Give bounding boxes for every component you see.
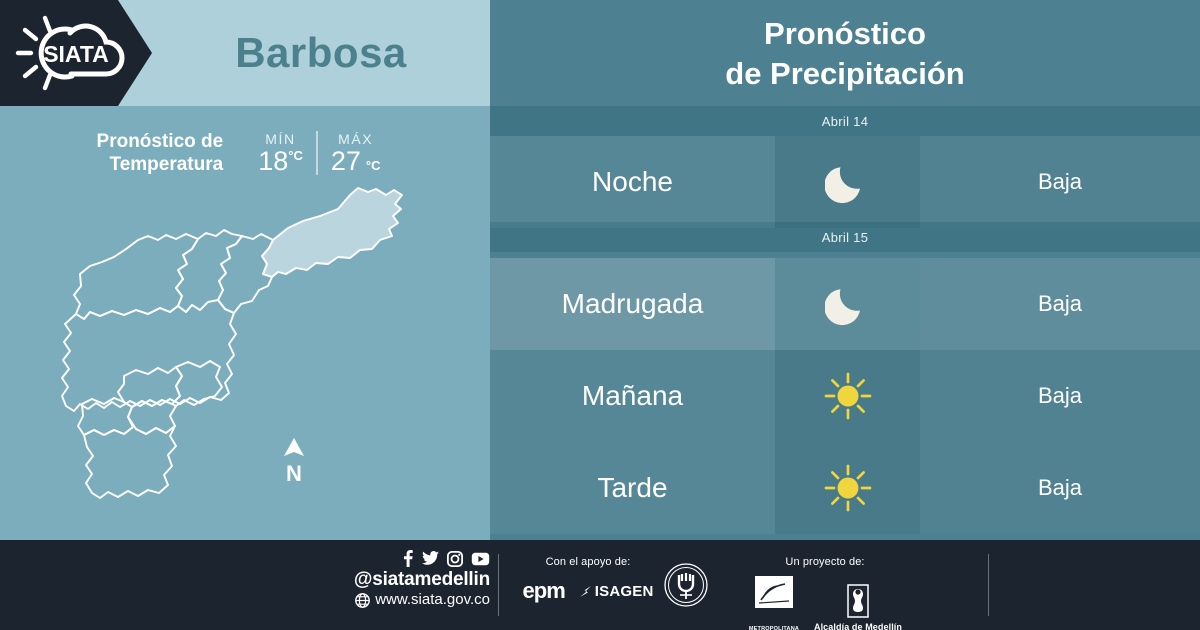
period-label-noche: Noche bbox=[490, 136, 775, 228]
sponsor-logos: epm ISAGEN bbox=[508, 580, 668, 602]
forecast-row-tarde: Tarde bbox=[490, 442, 1200, 534]
globe-icon bbox=[355, 593, 370, 608]
twitter-icon[interactable] bbox=[422, 551, 439, 566]
weather-forecast-poster: SIATA Barbosa Pronóstico de Temperatura … bbox=[0, 0, 1200, 630]
precip-level-manana: Baja bbox=[920, 350, 1200, 442]
institution-logos: METROPOLITANA Valle de Aburrá Alcaldía d… bbox=[700, 574, 950, 630]
weather-icon-cell-manana bbox=[775, 350, 920, 442]
support-block: Con el apoyo de: epm ISAGEN bbox=[508, 556, 668, 602]
forecast-title: Pronóstico de Precipitación bbox=[490, 14, 1200, 93]
temperature-max-label: MÁX bbox=[338, 131, 373, 147]
area-sub1: METROPOLITANA bbox=[748, 626, 800, 630]
youtube-icon[interactable] bbox=[471, 552, 490, 566]
moon-icon bbox=[825, 281, 871, 327]
map-region-barbosa bbox=[262, 188, 402, 277]
temperature-min-label: MÍN bbox=[265, 131, 295, 147]
project-label: Un proyecto de: bbox=[700, 556, 950, 568]
left-panel: SIATA Barbosa Pronóstico de Temperatura … bbox=[0, 0, 490, 540]
siata-logo-chevron: SIATA bbox=[0, 0, 152, 106]
support-label: Con el apoyo de: bbox=[508, 556, 668, 568]
map-panel: Pronóstico de Temperatura MÍN 18°C MÁX 2… bbox=[0, 106, 490, 540]
project-block: Un proyecto de: METROPOLITANA Valle de A… bbox=[700, 556, 950, 630]
social-block: @siatamedellin www.siata.gov.co bbox=[330, 550, 490, 609]
website-line[interactable]: www.siata.gov.co bbox=[355, 591, 490, 609]
map-region-envigado bbox=[172, 361, 222, 406]
social-icons bbox=[401, 550, 490, 567]
temperature-header: Pronóstico de Temperatura MÍN 18°C MÁX 2… bbox=[0, 122, 490, 184]
temperature-min-value: 18°C bbox=[258, 148, 303, 175]
map-region-medellin bbox=[62, 300, 236, 411]
compass-label: N bbox=[286, 461, 302, 484]
city-header-band: SIATA Barbosa bbox=[0, 0, 490, 106]
period-label-manana: Mañana bbox=[490, 350, 775, 442]
period-label-tarde: Tarde bbox=[490, 442, 775, 534]
sun-icon bbox=[822, 462, 874, 514]
forecast-row-madrugada: Madrugada Baja bbox=[490, 258, 1200, 350]
period-label-madrugada: Madrugada bbox=[490, 258, 775, 350]
epm-logo: epm bbox=[523, 580, 565, 602]
siata-logo-icon: SIATA bbox=[14, 12, 138, 94]
temperature-max-value: 27°C bbox=[331, 148, 381, 175]
temperature-title: Pronóstico de Temperatura bbox=[97, 130, 224, 176]
website-url: www.siata.gov.co bbox=[375, 591, 490, 609]
date-band-april-14: Abril 14 bbox=[490, 106, 1200, 136]
forecast-panel: Pronóstico de Precipitación Abril 14 Abr… bbox=[490, 0, 1200, 540]
social-handle[interactable]: @siatamedellin bbox=[354, 569, 490, 591]
isagen-logo: ISAGEN bbox=[578, 584, 654, 599]
weather-icon-cell-madrugada bbox=[775, 258, 920, 350]
sun-icon bbox=[822, 370, 874, 422]
precip-level-tarde: Baja bbox=[920, 442, 1200, 534]
map-region-caldas bbox=[84, 417, 176, 498]
siata-logo-text: SIATA bbox=[43, 41, 109, 67]
alcaldia-icon bbox=[842, 583, 874, 621]
instagram-icon[interactable] bbox=[447, 551, 463, 567]
area-metropolitana-logo: METROPOLITANA Valle de Aburrá bbox=[748, 574, 800, 630]
compass-north-icon: N bbox=[277, 436, 311, 484]
footer-divider-2 bbox=[988, 554, 989, 616]
temperature-max: MÁX 27°C bbox=[316, 131, 394, 175]
municipality-map-svg bbox=[20, 178, 470, 533]
temperature-readouts: MÍN 18°C MÁX 27°C bbox=[245, 131, 393, 175]
map-region-la-estrella bbox=[78, 398, 133, 435]
weather-icon-cell-noche bbox=[775, 136, 920, 228]
forecast-row-noche: Noche Baja bbox=[490, 136, 1200, 228]
aburra-valley-map bbox=[20, 178, 470, 533]
area-metropolitana-icon bbox=[748, 574, 800, 620]
isagen-text: ISAGEN bbox=[595, 584, 654, 599]
weather-icon-cell-tarde bbox=[775, 442, 920, 534]
isagen-mark-icon bbox=[578, 585, 592, 598]
map-region-copacabana bbox=[176, 230, 242, 312]
temperature-min: MÍN 18°C bbox=[245, 131, 316, 175]
forecast-rows: Noche Baja Madrugada Baja Mañana bbox=[490, 136, 1200, 534]
moon-icon bbox=[825, 159, 871, 205]
city-name: Barbosa bbox=[152, 0, 490, 106]
footer: @siatamedellin www.siata.gov.co Con el a… bbox=[0, 540, 1200, 630]
alcaldia-name: Alcaldía de Medellín bbox=[814, 622, 902, 630]
precip-level-madrugada: Baja bbox=[920, 258, 1200, 350]
facebook-icon[interactable] bbox=[401, 550, 414, 567]
footer-divider-1 bbox=[498, 554, 499, 616]
forecast-row-manana: Mañana bbox=[490, 350, 1200, 442]
precip-level-noche: Baja bbox=[920, 136, 1200, 228]
alcaldia-logo: Alcaldía de Medellín bbox=[814, 583, 902, 630]
